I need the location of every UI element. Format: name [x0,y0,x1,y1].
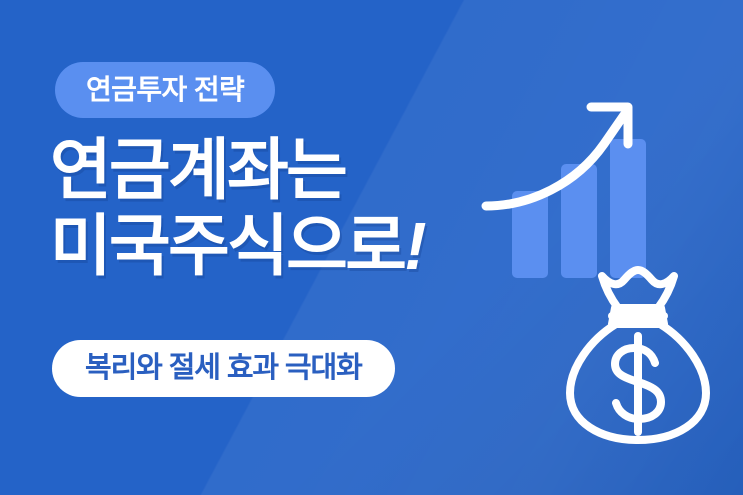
headline: 연금계좌는 미국주식으로! [50,133,426,284]
promo-banner: 연금투자 전략 연금계좌는 미국주식으로! 복리와 절세 효과 극대화 [0,0,743,495]
benefit-pill: 복리와 절세 효과 극대화 [52,340,395,397]
dollar-sign-icon [615,336,661,432]
benefit-pill-label: 복리와 절세 효과 극대화 [85,354,362,383]
growth-chart-graphic [478,88,668,278]
category-badge: 연금투자 전략 [55,62,275,118]
headline-line-2-text: 미국주식으로 [50,209,404,284]
growth-arrow-icon [486,107,628,206]
headline-exclamation: ! [404,209,425,284]
headline-line-1: 연금계좌는 [50,133,426,209]
category-badge-label: 연금투자 전략 [86,76,244,104]
money-bag-graphic [560,252,716,448]
headline-line-2: 미국주식으로! [50,209,426,285]
